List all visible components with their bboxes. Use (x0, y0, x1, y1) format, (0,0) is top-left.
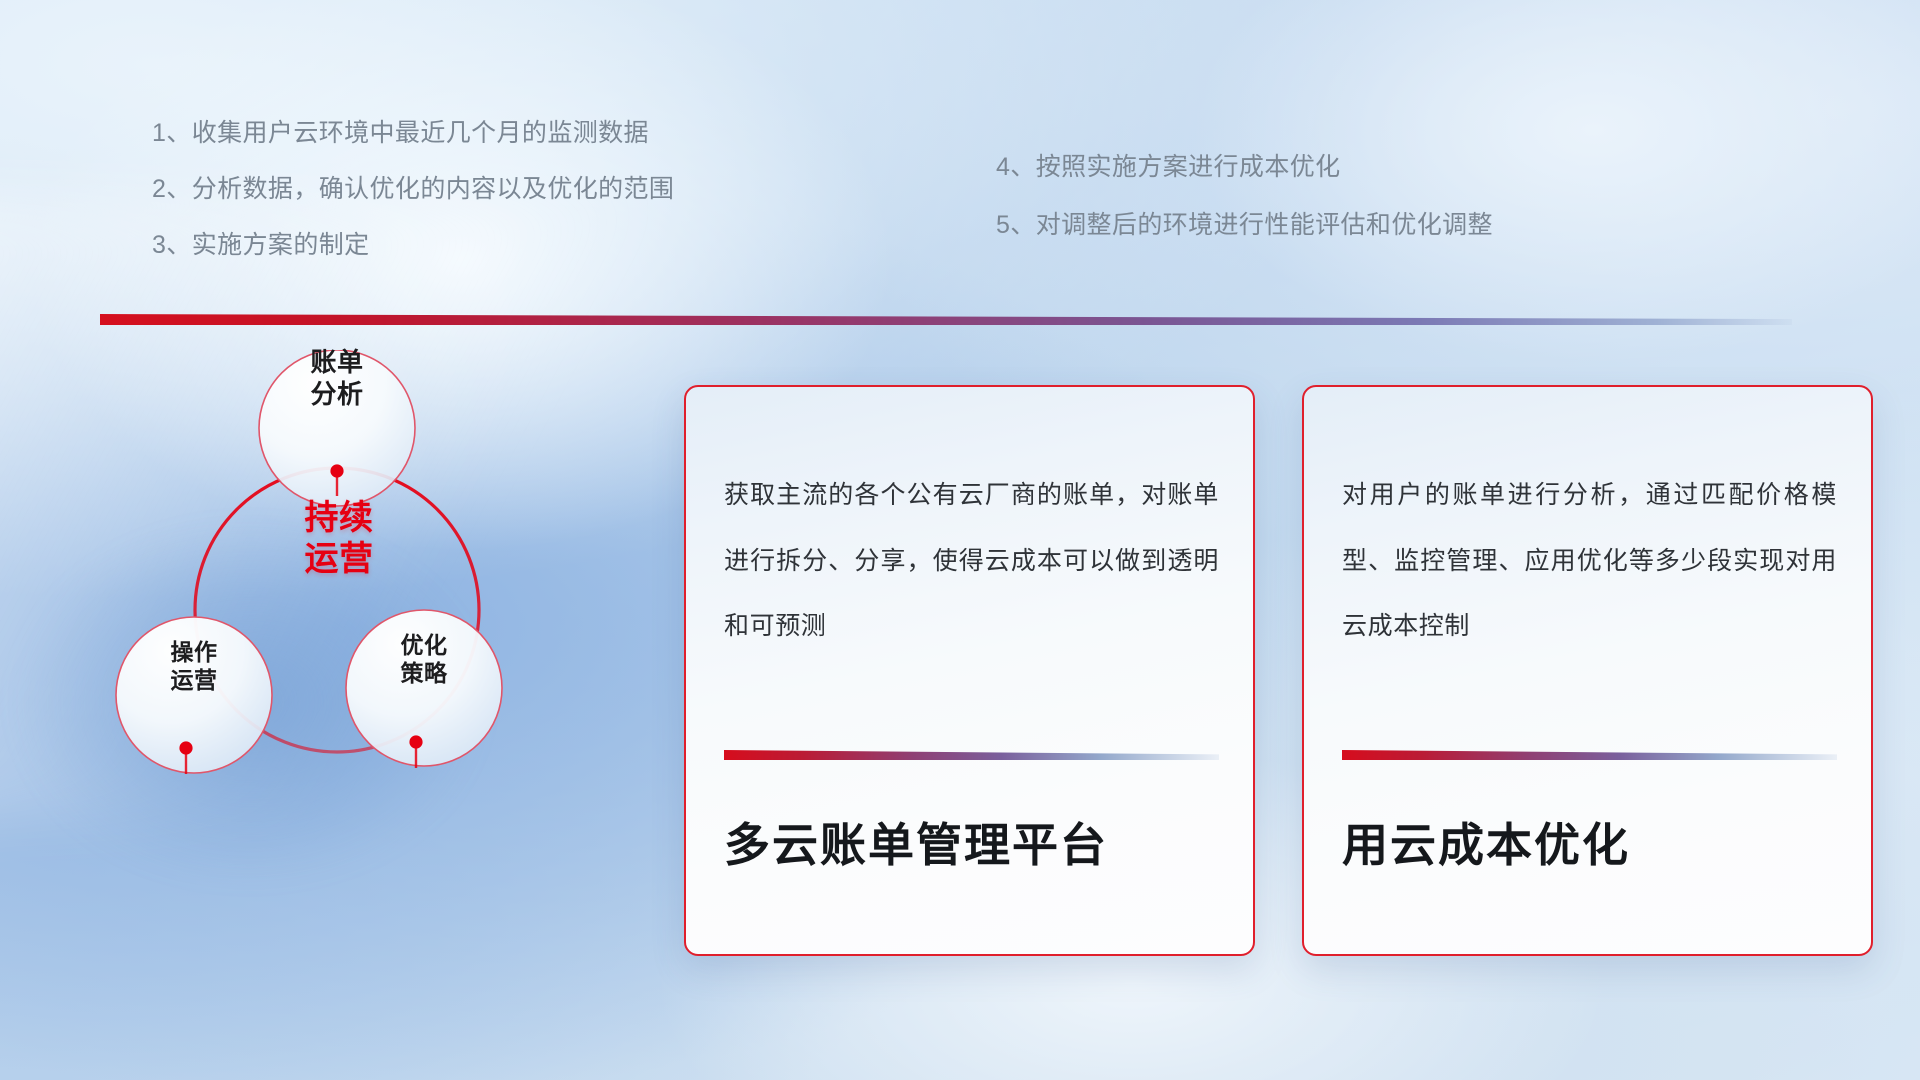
venn-dot-top (330, 464, 343, 477)
step-item: 3、 实施方案的制定 (152, 233, 674, 258)
step-number: 1、 (152, 121, 192, 146)
card-body-text: 对用户的账单进行分析，通过匹配价格模型、监控管理、应用优化等多少段实现对用云成本… (1342, 463, 1837, 660)
card-body-text: 获取主流的各个公有云厂商的账单，对账单进行拆分、分享，使得云成本可以做到透明和可… (724, 463, 1219, 660)
venn-bubble-bottom-left (116, 617, 272, 773)
step-text: 按照实施方案进行成本优化 (1036, 155, 1341, 180)
step-number: 3、 (152, 233, 192, 258)
card-title: 多云账单管理平台 (724, 817, 1223, 875)
venn-bubble-bottom-right (346, 610, 502, 766)
card-divider (1342, 750, 1837, 760)
step-item: 2、 分析数据，确认优化的内容以及优化的范围 (152, 177, 674, 202)
step-number: 5、 (996, 213, 1036, 238)
card-divider (724, 750, 1219, 760)
steps-right-column: 4、 按照实施方案进行成本优化 5、 对调整后的环境进行性能评估和优化调整 (996, 155, 1493, 271)
slide-stage: 1、 收集用户云环境中最近几个月的监测数据 2、 分析数据，确认优化的内容以及优… (0, 0, 1920, 1080)
divider-gradient-bar (100, 314, 1792, 325)
card-cloud-cost-optimization[interactable]: 对用户的账单进行分析，通过匹配价格模型、监控管理、应用优化等多少段实现对用云成本… (1302, 385, 1873, 956)
step-number: 4、 (996, 155, 1036, 180)
venn-dot-bottom-left (179, 741, 192, 754)
venn-diagram: 账单 分析 操作 运营 优化 策略 持续 运营 (94, 350, 564, 870)
step-text: 收集用户云环境中最近几个月的监测数据 (192, 121, 649, 146)
card-title: 用云成本优化 (1342, 817, 1841, 875)
step-item: 1、 收集用户云环境中最近几个月的监测数据 (152, 121, 674, 146)
steps-left-column: 1、 收集用户云环境中最近几个月的监测数据 2、 分析数据，确认优化的内容以及优… (152, 121, 674, 289)
step-text: 实施方案的制定 (192, 233, 370, 258)
step-text: 对调整后的环境进行性能评估和优化调整 (1036, 213, 1493, 238)
card-multi-cloud-billing-platform[interactable]: 获取主流的各个公有云厂商的账单，对账单进行拆分、分享，使得云成本可以做到透明和可… (684, 385, 1255, 956)
venn-dot-bottom-right (409, 735, 422, 748)
step-item: 5、 对调整后的环境进行性能评估和优化调整 (996, 213, 1493, 238)
step-item: 4、 按照实施方案进行成本优化 (996, 155, 1493, 180)
section-divider-rule (100, 314, 1792, 325)
step-number: 2、 (152, 177, 192, 202)
step-text: 分析数据，确认优化的内容以及优化的范围 (192, 177, 675, 202)
